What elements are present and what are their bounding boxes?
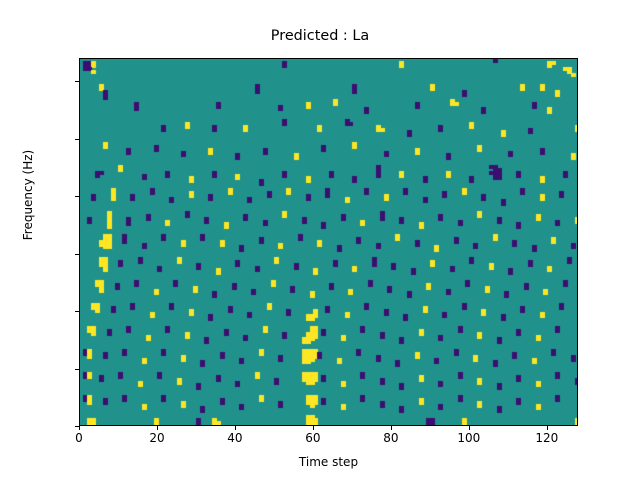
x-tick-label: 0 [39, 431, 119, 445]
x-tick-label: 120 [507, 431, 587, 445]
x-tick-mark [157, 426, 158, 430]
x-tick-label: 20 [117, 431, 197, 445]
spectrogram-heatmap [80, 59, 578, 426]
y-tick-mark [75, 196, 79, 197]
y-tick-mark [75, 311, 79, 312]
x-tick-mark [235, 426, 236, 430]
x-tick-mark [313, 426, 314, 430]
x-tick-mark [547, 426, 548, 430]
heatmap-axes [79, 58, 578, 426]
y-tick-mark [75, 254, 79, 255]
x-tick-mark [469, 426, 470, 430]
y-tick-mark [75, 369, 79, 370]
x-tick-mark [391, 426, 392, 430]
page-title: Predicted : La [0, 28, 640, 44]
matplotlib-figure: Predicted : La Frequency (Hz) Time step … [0, 0, 640, 480]
x-tick-label: 100 [429, 431, 509, 445]
x-tick-label: 80 [351, 431, 431, 445]
y-axis-label: Frequency (Hz) [21, 50, 35, 340]
x-tick-label: 40 [195, 431, 275, 445]
x-axis-label: Time step [79, 455, 578, 469]
x-tick-label: 60 [273, 431, 353, 445]
y-tick-mark [75, 139, 79, 140]
y-tick-mark [75, 81, 79, 82]
x-tick-mark [79, 426, 80, 430]
